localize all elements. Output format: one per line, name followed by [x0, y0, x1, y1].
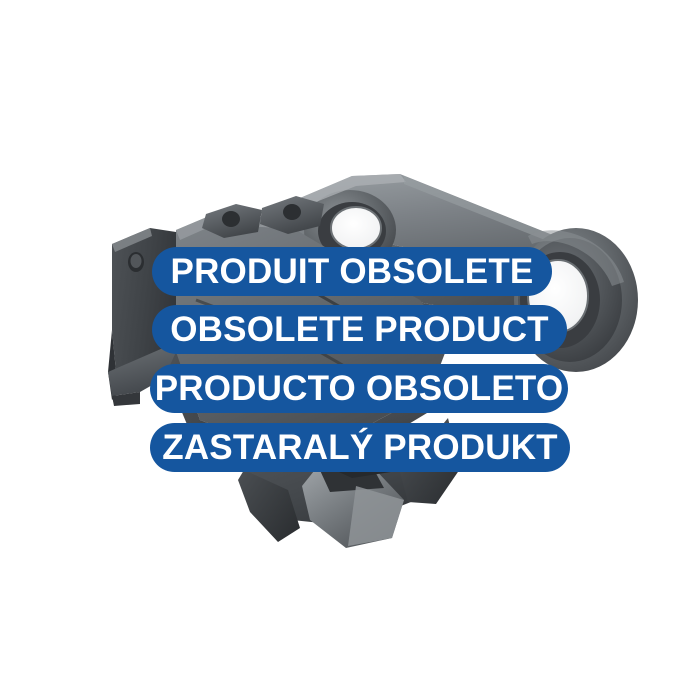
obsolete-badge-en: OBSOLETE PRODUCT: [152, 305, 567, 354]
obsolete-badge-label-en: OBSOLETE PRODUCT: [170, 312, 549, 347]
obsolete-badge-label-cs: ZASTARALÝ PRODUKT: [162, 430, 558, 465]
obsolete-badge-cs: ZASTARALÝ PRODUKT: [150, 423, 570, 472]
obsolete-badge-label-es: PRODUCTO OBSOLETO: [155, 371, 564, 406]
obsolete-badge-es: PRODUCTO OBSOLETO: [150, 364, 568, 413]
obsolete-badge-fr: PRODUIT OBSOLETE: [152, 247, 552, 296]
product-image-canvas: PRODUIT OBSOLETE OBSOLETE PRODUCT PRODUC…: [0, 0, 700, 700]
obsolete-badge-label-fr: PRODUIT OBSOLETE: [171, 254, 534, 289]
obsolete-badge-stack: PRODUIT OBSOLETE OBSOLETE PRODUCT PRODUC…: [0, 243, 700, 477]
